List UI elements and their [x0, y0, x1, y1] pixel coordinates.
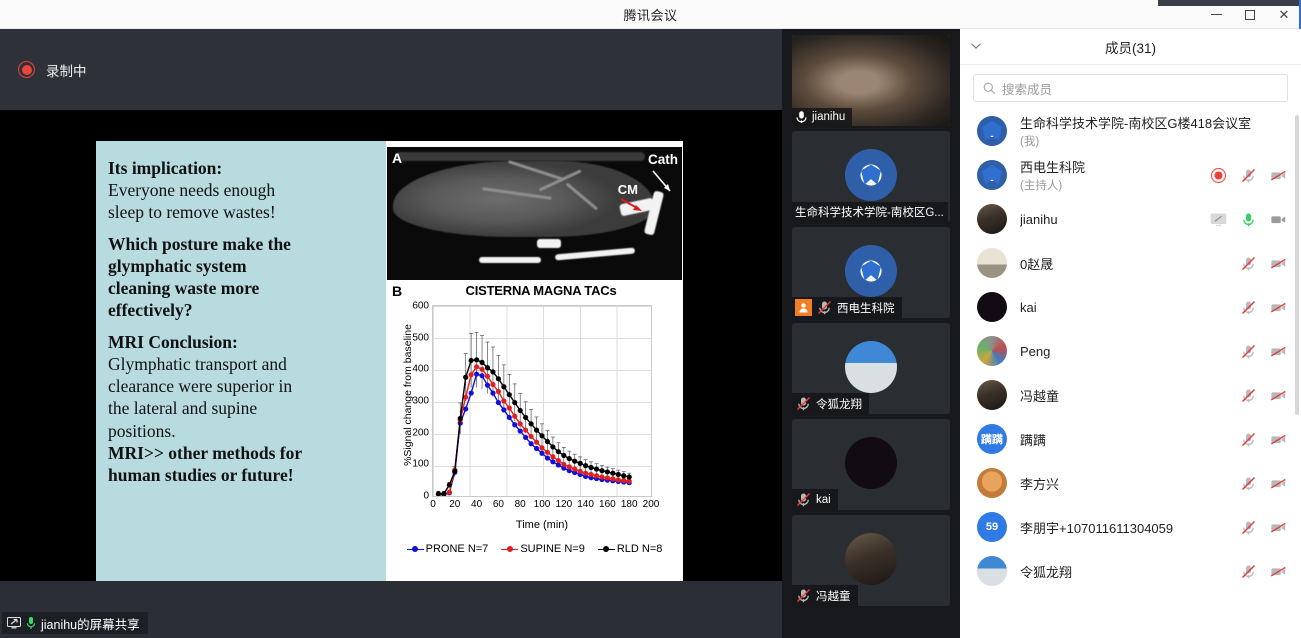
slide-text-line: cleaning waste more: [108, 277, 384, 299]
legend-marker-icon: [501, 545, 518, 554]
chart-point: [605, 475, 610, 480]
chart-point: [610, 476, 615, 481]
participant-name-block: 0赵晟: [1020, 254, 1240, 273]
thumbnail-avatar: [845, 149, 897, 201]
status-icon-slot[interactable]: [1240, 475, 1257, 492]
mri-skull-band: [395, 152, 645, 161]
chart-y-tick: 200: [412, 427, 429, 438]
status-icon-slot[interactable]: [1270, 167, 1287, 184]
chart-point: [599, 474, 604, 479]
chart-point: [507, 392, 512, 397]
participant-row[interactable]: Peng: [960, 329, 1301, 373]
participant-status-icons: [1240, 519, 1287, 536]
chart-point: [616, 472, 621, 477]
participant-row[interactable]: 西电生科院(主持人): [960, 153, 1301, 197]
chart-point: [567, 464, 572, 469]
slide-text-line: Its implication:: [108, 157, 384, 179]
thumbnail-avatar: [845, 341, 897, 393]
participant-row[interactable]: 生命科学技术学院-南校区G楼418会议室(我): [960, 109, 1301, 153]
mic-muted-icon[interactable]: [1240, 343, 1257, 360]
chart-point: [599, 468, 604, 473]
status-icon-slot[interactable]: [1240, 519, 1257, 536]
chart-point: [556, 458, 561, 463]
mic-on-icon[interactable]: [1240, 211, 1257, 228]
chart-point: [567, 456, 572, 461]
participant-row[interactable]: kai: [960, 285, 1301, 329]
participant-status-icons: [1240, 431, 1287, 448]
participant-name: 蹒蹒: [1020, 430, 1240, 449]
chevron-down-icon[interactable]: [970, 40, 982, 52]
thumbnail-name-badge: 生命科学技术学院-南校区G...: [792, 202, 948, 222]
participant-list[interactable]: 生命科学技术学院-南校区G楼418会议室(我)西电生科院(主持人)jianihu…: [960, 109, 1301, 633]
camera-muted-icon[interactable]: [1270, 255, 1287, 272]
chart-legend-item: RLD N=8: [598, 543, 663, 555]
camera-muted-icon[interactable]: [1270, 343, 1287, 360]
chart-point: [518, 421, 523, 426]
window-titlebar: 腾讯会议 ✕: [0, 0, 1301, 29]
video-thumbnail[interactable]: kai: [792, 419, 950, 510]
chart-point: [507, 405, 512, 410]
recording-icon: [18, 61, 35, 78]
thumbnail-name-badge: 冯越童: [792, 585, 858, 606]
camera-muted-icon[interactable]: [1270, 387, 1287, 404]
chart-x-tick: 120: [555, 499, 572, 510]
camera-muted-icon[interactable]: [1270, 519, 1287, 536]
thumbnail-name-badge: 令狐龙翔: [792, 393, 869, 414]
slide-text-line: MRI Conclusion:: [108, 331, 384, 353]
status-icon-slot[interactable]: [1270, 431, 1287, 448]
participant-name: Peng: [1020, 344, 1240, 359]
window-title: 腾讯会议: [623, 5, 677, 24]
thumbnail-name-badge: 西电生科院: [792, 297, 902, 318]
chart-point: [474, 357, 479, 362]
mic-muted-icon[interactable]: [1240, 299, 1257, 316]
participant-name: 西电生科院: [1020, 157, 1210, 176]
mic-muted-icon[interactable]: [1240, 563, 1257, 580]
chart-point: [490, 382, 495, 387]
mic-muted-icon[interactable]: [1240, 387, 1257, 404]
participant-name: 冯越童: [1020, 386, 1240, 405]
chart-legend-label: RLD N=8: [617, 543, 663, 555]
chart-point: [496, 389, 501, 394]
participant-name: kai: [1020, 300, 1240, 315]
status-icon-slot[interactable]: [1240, 299, 1257, 316]
status-icon-slot[interactable]: [1240, 211, 1257, 228]
chart-point: [550, 454, 555, 459]
chart-point: [550, 459, 555, 464]
legend-marker-icon: [598, 545, 615, 554]
search-input[interactable]: 搜索成员: [973, 74, 1288, 102]
participant-name-block: Peng: [1020, 344, 1240, 359]
video-thumbnail-strip[interactable]: jianihu生命科学技术学院-南校区G...西电生科院令狐龙翔kai冯越童: [782, 29, 960, 638]
chart-point: [627, 474, 632, 479]
recording-label: 录制中: [46, 60, 87, 80]
participant-name-block: 李朋宇+107011611304059: [1020, 518, 1240, 537]
participant-name-block: 生命科学技术学院-南校区G楼418会议室(我): [1020, 113, 1287, 149]
mri-panel-a: A Cath CM: [387, 147, 682, 280]
thumbnail-name-label: jianihu: [812, 111, 845, 123]
chart-point: [539, 433, 544, 438]
close-icon: ✕: [1279, 8, 1290, 21]
microphone-icon: [26, 616, 36, 630]
slide-text-line: clearance were superior in: [108, 375, 384, 397]
chart-point: [469, 372, 474, 377]
chart-point: [512, 400, 517, 405]
chart-point: [534, 446, 539, 451]
chart-x-tick: 180: [621, 499, 638, 510]
slide-figure-column: A Cath CM B CISTERNA MAGNA TACs: [386, 141, 683, 581]
mri-brain-region: [393, 161, 655, 237]
chart-point: [474, 371, 479, 376]
mic-muted-icon[interactable]: [1240, 475, 1257, 492]
thumbnail-name-label: 西电生科院: [837, 300, 895, 316]
mri-cm-annotation: CM: [618, 182, 638, 197]
slide-paragraph-gap: [108, 321, 384, 331]
chart-line-rld: [438, 360, 629, 494]
screen-share-status-icon[interactable]: [1210, 212, 1227, 227]
chart-point: [529, 434, 534, 439]
chart-legend-label: SUPINE N=9: [520, 543, 585, 555]
participant-avatar: [977, 380, 1007, 410]
participant-name-block: 西电生科院(主持人): [1020, 157, 1210, 193]
participant-role-label: (我): [1020, 133, 1287, 149]
camera-muted-icon[interactable]: [1270, 475, 1287, 492]
chart-point: [452, 469, 457, 474]
participant-name-block: 蹒蹒: [1020, 430, 1240, 449]
participant-avatar: [977, 336, 1007, 366]
chart-point: [485, 383, 490, 388]
camera-muted-icon[interactable]: [1270, 167, 1287, 184]
status-icon-slot[interactable]: [1210, 211, 1227, 228]
chart-point: [447, 490, 452, 495]
chart-x-axis-label: Time (min): [432, 519, 652, 531]
chart-point: [534, 428, 539, 433]
chart-y-tick: 300: [412, 396, 429, 407]
chart-point: [588, 472, 593, 477]
mic-on-icon: [795, 110, 808, 124]
chart-legend-item: SUPINE N=9: [501, 543, 585, 555]
camera-muted-icon[interactable]: [1270, 299, 1287, 316]
screen-share-indicator: jianihu的屏幕共享: [2, 612, 148, 634]
chart-x-tick: 20: [449, 499, 460, 510]
chart-point: [583, 463, 588, 468]
participant-avatar: 59: [977, 512, 1007, 542]
participant-name: 李朋宇+107011611304059: [1020, 518, 1240, 537]
chart-point: [485, 374, 490, 379]
slide-text-line: positions.: [108, 420, 384, 442]
chart-point: [588, 465, 593, 470]
slide-text-line: glymphatic system: [108, 255, 384, 277]
participant-name: 0赵晟: [1020, 254, 1240, 273]
recording-status-icon[interactable]: [1210, 167, 1227, 184]
host-badge-icon: [795, 299, 812, 316]
chart-point: [490, 390, 495, 395]
slide-text-line: MRI>> other methods for: [108, 442, 384, 464]
chart-point: [436, 491, 441, 496]
status-icon-slot[interactable]: [1240, 255, 1257, 272]
participant-name: 令狐龙翔: [1020, 562, 1240, 581]
chart-x-tick: 0: [430, 499, 436, 510]
maximize-icon: [1245, 10, 1255, 20]
participant-avatar: [977, 204, 1007, 234]
participant-row[interactable]: 0赵晟: [960, 241, 1301, 285]
mri-cath-annotation: Cath: [648, 152, 678, 167]
participant-name: 李方兴: [1020, 474, 1240, 493]
chart-y-tick: 400: [412, 364, 429, 375]
recording-dot: [22, 65, 32, 75]
video-thumbnail[interactable]: 冯越童: [792, 515, 950, 606]
panel-b-label: B: [392, 283, 402, 299]
thumbnail-name-badge: jianihu: [792, 108, 852, 126]
thumbnail-avatar: [845, 437, 897, 489]
thumbnail-avatar: [845, 533, 897, 585]
camera-muted-icon[interactable]: [1270, 563, 1287, 580]
participant-row[interactable]: 冯越童: [960, 373, 1301, 417]
status-icon-slot[interactable]: [1270, 211, 1287, 228]
participant-avatar: 蹒蹒: [977, 424, 1007, 454]
chart-point: [496, 400, 501, 405]
chart-point: [621, 473, 626, 478]
mic-muted-icon[interactable]: [816, 299, 833, 316]
shared-screen-stage[interactable]: 录制中 Its implication:Everyone needs enoug…: [0, 29, 782, 638]
chart-legend: PRONE N=7SUPINE N=9RLD N=8: [392, 543, 677, 555]
legend-marker-icon: [407, 545, 424, 554]
mri-cath-arrow-icon: [650, 169, 676, 195]
participants-count-title: 成员(31): [1105, 37, 1156, 57]
chart-point: [550, 444, 555, 449]
participant-status-icons: [1240, 475, 1287, 492]
chart-x-tick: 140: [577, 499, 594, 510]
participant-status-icons: [1240, 563, 1287, 580]
chart-point: [485, 365, 490, 370]
slide-text-column: Its implication:Everyone needs enoughsle…: [108, 157, 384, 577]
camera-muted-icon[interactable]: [1270, 431, 1287, 448]
presentation-slide: Its implication:Everyone needs enoughsle…: [96, 141, 683, 581]
status-icon-slot[interactable]: [1270, 563, 1287, 580]
chart-point: [496, 376, 501, 381]
status-icon-slot[interactable]: [1270, 519, 1287, 536]
participant-avatar: [977, 160, 1007, 190]
participant-list-scrollbar[interactable]: [1295, 115, 1299, 415]
participant-name-block: jianihu: [1020, 212, 1210, 227]
participant-status-icons: [1240, 299, 1287, 316]
participant-status-icons: [1210, 167, 1287, 184]
status-icon-slot[interactable]: [1240, 563, 1257, 580]
status-icon-slot[interactable]: [1210, 167, 1227, 184]
chart-point: [545, 439, 550, 444]
chart-point: [578, 461, 583, 466]
chart-point: [518, 408, 523, 413]
chart-point: [610, 471, 615, 476]
chart-x-tick: 160: [599, 499, 616, 510]
chart-panel-b: B CISTERNA MAGNA TACs %Signal change fro…: [386, 281, 683, 581]
chart-point: [512, 414, 517, 419]
slide-text-line: Glymphatic transport and: [108, 353, 384, 375]
participant-name-block: 李方兴: [1020, 474, 1240, 493]
chart-point: [469, 390, 474, 395]
mri-cm-arrow-icon: [620, 197, 646, 213]
chart-point: [523, 415, 528, 420]
chart-point: [479, 360, 484, 365]
mic-muted-icon[interactable]: [795, 587, 812, 604]
chart-point: [556, 449, 561, 454]
chart-y-tick: 100: [412, 459, 429, 470]
slide-text-line: Which posture make the: [108, 233, 384, 255]
participant-row[interactable]: jianihu: [960, 197, 1301, 241]
status-icon-slot[interactable]: [1270, 299, 1287, 316]
chart-point: [501, 384, 506, 389]
mri-bright-structure: [555, 248, 635, 261]
chart-title: CISTERNA MAGNA TACs: [426, 283, 656, 298]
participant-status-icons: [1240, 387, 1287, 404]
mic-muted-icon[interactable]: [1240, 519, 1257, 536]
chart-point: [561, 462, 566, 467]
chart-legend-item: PRONE N=7: [407, 543, 489, 555]
chart-x-tick: 40: [471, 499, 482, 510]
status-icon-slot[interactable]: [1240, 431, 1257, 448]
thumbnail-name-label: 生命科学技术学院-南校区G...: [795, 204, 944, 220]
chart-point: [469, 358, 474, 363]
video-thumbnail[interactable]: 生命科学技术学院-南校区G...: [792, 131, 950, 222]
participant-name: 生命科学技术学院-南校区G楼418会议室: [1020, 113, 1287, 132]
screen-share-icon: [7, 617, 21, 629]
thumbnail-name-badge: kai: [792, 489, 838, 510]
participant-row[interactable]: 李方兴: [960, 461, 1301, 505]
chart-point: [458, 416, 463, 421]
chart-point: [539, 445, 544, 450]
mic-muted-icon[interactable]: [795, 491, 812, 508]
participant-name: jianihu: [1020, 212, 1210, 227]
chart-point: [545, 450, 550, 455]
chart-point: [561, 453, 566, 458]
participant-name-block: 冯越童: [1020, 386, 1240, 405]
mic-muted-icon[interactable]: [795, 395, 812, 412]
participant-name-block: 令狐龙翔: [1020, 562, 1240, 581]
participant-status-icons: [1210, 211, 1287, 228]
chart-point: [507, 415, 512, 420]
mic-muted-icon[interactable]: [1240, 431, 1257, 448]
chart-plot-area: 0100200300400500600020406080100120140160…: [432, 305, 652, 497]
video-thumbnail[interactable]: 西电生科院: [792, 227, 950, 318]
participant-avatar: [977, 556, 1007, 586]
screen-share-label: jianihu的屏幕共享: [41, 614, 140, 633]
chart-point: [572, 459, 577, 464]
thumbnail-name-label: 冯越童: [816, 588, 851, 604]
participant-avatar: [977, 116, 1007, 146]
chart-x-tick: 200: [643, 499, 660, 510]
search-icon: [983, 82, 996, 95]
status-icon-slot[interactable]: [1270, 255, 1287, 272]
mic-muted-icon[interactable]: [1240, 167, 1257, 184]
chart-point: [479, 373, 484, 378]
chart-point: [594, 466, 599, 471]
thumbnail-name-label: kai: [816, 494, 831, 506]
status-icon-slot[interactable]: [1270, 475, 1287, 492]
chart-point: [474, 364, 479, 369]
chart-point: [529, 421, 534, 426]
participant-role-label: (主持人): [1020, 177, 1210, 193]
slide-text-line: human studies or future!: [108, 464, 384, 486]
search-placeholder: 搜索成员: [1002, 79, 1052, 98]
titlebar-dark-strip: [1158, 0, 1301, 6]
participant-search-wrapper: 搜索成员: [960, 65, 1301, 109]
chart-y-tick: 0: [423, 491, 429, 502]
status-icon-slot[interactable]: [1240, 167, 1257, 184]
chart-point: [572, 466, 577, 471]
status-icon-slot[interactable]: [1240, 387, 1257, 404]
status-icon-slot[interactable]: [1270, 343, 1287, 360]
chart-point: [501, 407, 506, 412]
mri-bright-structure: [537, 239, 561, 248]
participant-row[interactable]: 蹒蹒蹒蹒: [960, 417, 1301, 461]
status-icon-slot[interactable]: [1270, 387, 1287, 404]
mic-muted-icon[interactable]: [1240, 255, 1257, 272]
recording-bar: 录制中: [0, 29, 782, 110]
chart-point: [621, 478, 626, 483]
participants-panel: 成员(31) 搜索成员 生命科学技术学院-南校区G楼418会议室(我)西电生科院…: [960, 29, 1301, 638]
chart-point: [578, 469, 583, 474]
thumbnail-avatar: [845, 245, 897, 297]
mri-bright-structure: [479, 257, 541, 263]
slide-text-line: Everyone needs enough: [108, 179, 384, 201]
chart-y-tick: 500: [412, 332, 429, 343]
slide-paragraph-gap: [108, 223, 384, 233]
participants-panel-header: 成员(31): [960, 29, 1301, 65]
chart-y-tick: 600: [412, 301, 429, 312]
chart-legend-label: PRONE N=7: [426, 543, 489, 555]
panel-a-label: A: [392, 150, 402, 166]
camera-on-icon[interactable]: [1270, 211, 1287, 228]
chart-point: [518, 428, 523, 433]
chart-x-tick: 80: [515, 499, 526, 510]
slide-text-line: effectively?: [108, 299, 384, 321]
minimize-icon: [1211, 14, 1222, 15]
chart-point: [539, 451, 544, 456]
participant-avatar: [977, 248, 1007, 278]
chart-point: [605, 469, 610, 474]
chart-point: [463, 375, 468, 380]
chart-point: [616, 477, 621, 482]
chart-point: [583, 471, 588, 476]
participant-name-block: kai: [1020, 300, 1240, 315]
chart-point: [512, 422, 517, 427]
slide-text-line: sleep to remove wastes!: [108, 201, 384, 223]
chart-x-tick: 100: [534, 499, 551, 510]
chart-point: [501, 398, 506, 403]
status-icon-slot[interactable]: [1240, 343, 1257, 360]
chart-point: [523, 435, 528, 440]
chart-point: [447, 482, 452, 487]
thumbnail-name-label: 令狐龙翔: [816, 396, 862, 412]
chart-point: [545, 455, 550, 460]
chart-point: [556, 462, 561, 467]
participant-avatar: [977, 292, 1007, 322]
participant-status-icons: [1240, 255, 1287, 272]
participant-status-icons: [1240, 343, 1287, 360]
participant-avatar: [977, 468, 1007, 498]
chart-point: [534, 440, 539, 445]
chart-point: [523, 428, 528, 433]
chart-point: [490, 369, 495, 374]
chart-point: [479, 367, 484, 372]
video-thumbnail[interactable]: jianihu: [792, 35, 950, 126]
video-thumbnail[interactable]: 令狐龙翔: [792, 323, 950, 414]
participant-row[interactable]: 59李朋宇+107011611304059: [960, 505, 1301, 549]
chart-point: [594, 473, 599, 478]
participant-row[interactable]: 令狐龙翔: [960, 549, 1301, 593]
slide-text-line: the lateral and supine: [108, 397, 384, 419]
chart-point: [529, 441, 534, 446]
